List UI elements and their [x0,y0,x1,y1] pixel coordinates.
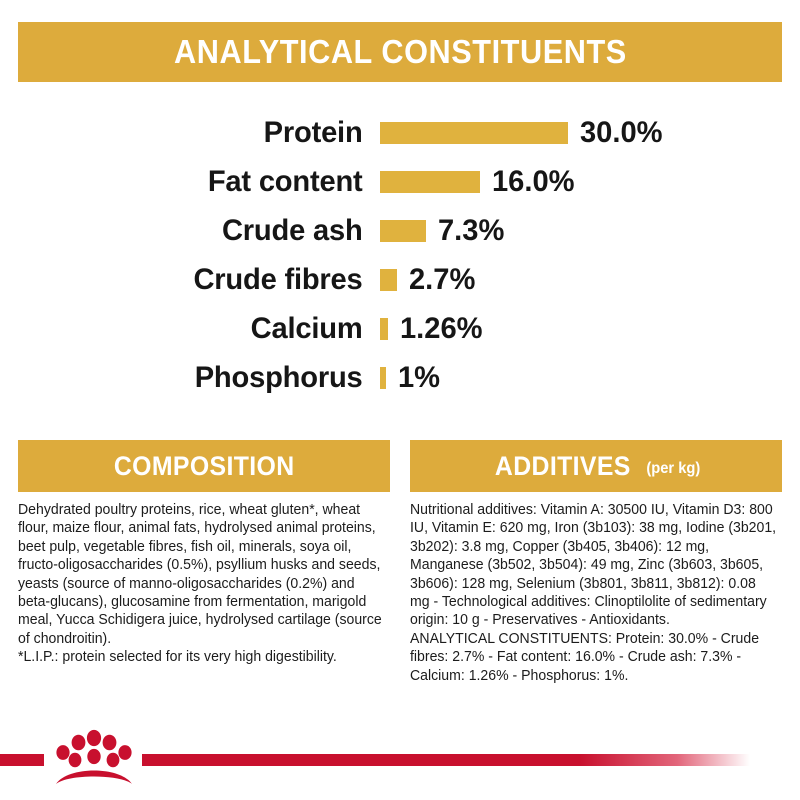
chart-row: Calcium1.26% [0,304,800,353]
additives-panel: ADDITIVES (per kg) Nutritional additives… [410,440,782,685]
chart-bar-group: 16.0% [380,165,800,199]
additives-header: ADDITIVES (per kg) [410,440,782,492]
chart-value-label: 1% [398,361,440,395]
chart-bar [380,171,480,193]
chart-row-label: Phosphorus [11,361,380,395]
chart-bar-group: 30.0% [380,116,800,150]
chart-value-label: 16.0% [492,165,575,199]
chart-row: Crude fibres2.7% [0,255,800,304]
additives-header-unit-label: (per kg) [646,460,700,478]
chart-bar-group: 1% [380,361,800,395]
chart-value-label: 7.3% [438,214,504,248]
composition-body: Dehydrated poultry proteins, rice, wheat… [18,492,384,667]
analytical-constituents-header: ANALYTICAL CONSTITUENTS [18,22,782,82]
chart-value-label: 30.0% [580,116,663,150]
chart-bar [380,122,568,144]
page-title: ANALYTICAL CONSTITUENTS [174,33,627,71]
composition-header-label: COMPOSITION [114,451,295,482]
chart-row-label: Protein [11,116,380,150]
chart-row-label: Crude fibres [11,263,380,297]
chart-bar-group: 2.7% [380,263,800,297]
additives-header-label: ADDITIVES [495,451,631,482]
chart-value-label: 1.26% [400,312,483,346]
composition-panel: COMPOSITION Dehydrated poultry proteins,… [18,440,390,667]
analytical-constituents-chart: Protein30.0%Fat content16.0%Crude ash7.3… [0,108,800,408]
chart-row-label: Fat content [11,165,380,199]
chart-bar [380,269,397,291]
chart-row: Crude ash7.3% [0,206,800,255]
chart-row: Fat content16.0% [0,157,800,206]
chart-value-label: 2.7% [409,263,475,297]
chart-bar [380,220,426,242]
additives-analytical-text: ANALYTICAL CONSTITUENTS: Protein: 30.0% … [410,630,776,685]
composition-header: COMPOSITION [18,440,390,492]
royal-canin-crown-icon [50,712,138,786]
composition-footnote-text: *L.I.P.: protein selected for its very h… [18,648,384,666]
composition-ingredients-text: Dehydrated poultry proteins, rice, wheat… [18,501,384,648]
additives-nutritional-text: Nutritional additives: Vitamin A: 30500 … [410,501,776,630]
chart-bar-group: 7.3% [380,214,800,248]
additives-body: Nutritional additives: Vitamin A: 30500 … [410,492,776,685]
chart-bar-group: 1.26% [380,312,800,346]
chart-bar [380,318,388,340]
chart-row: Phosphorus1% [0,353,800,402]
chart-row: Protein30.0% [0,108,800,157]
chart-row-label: Calcium [11,312,380,346]
chart-bar [380,367,386,389]
footer-rule-left [0,754,44,766]
chart-row-label: Crude ash [11,214,380,248]
footer-rule-right [142,754,750,766]
